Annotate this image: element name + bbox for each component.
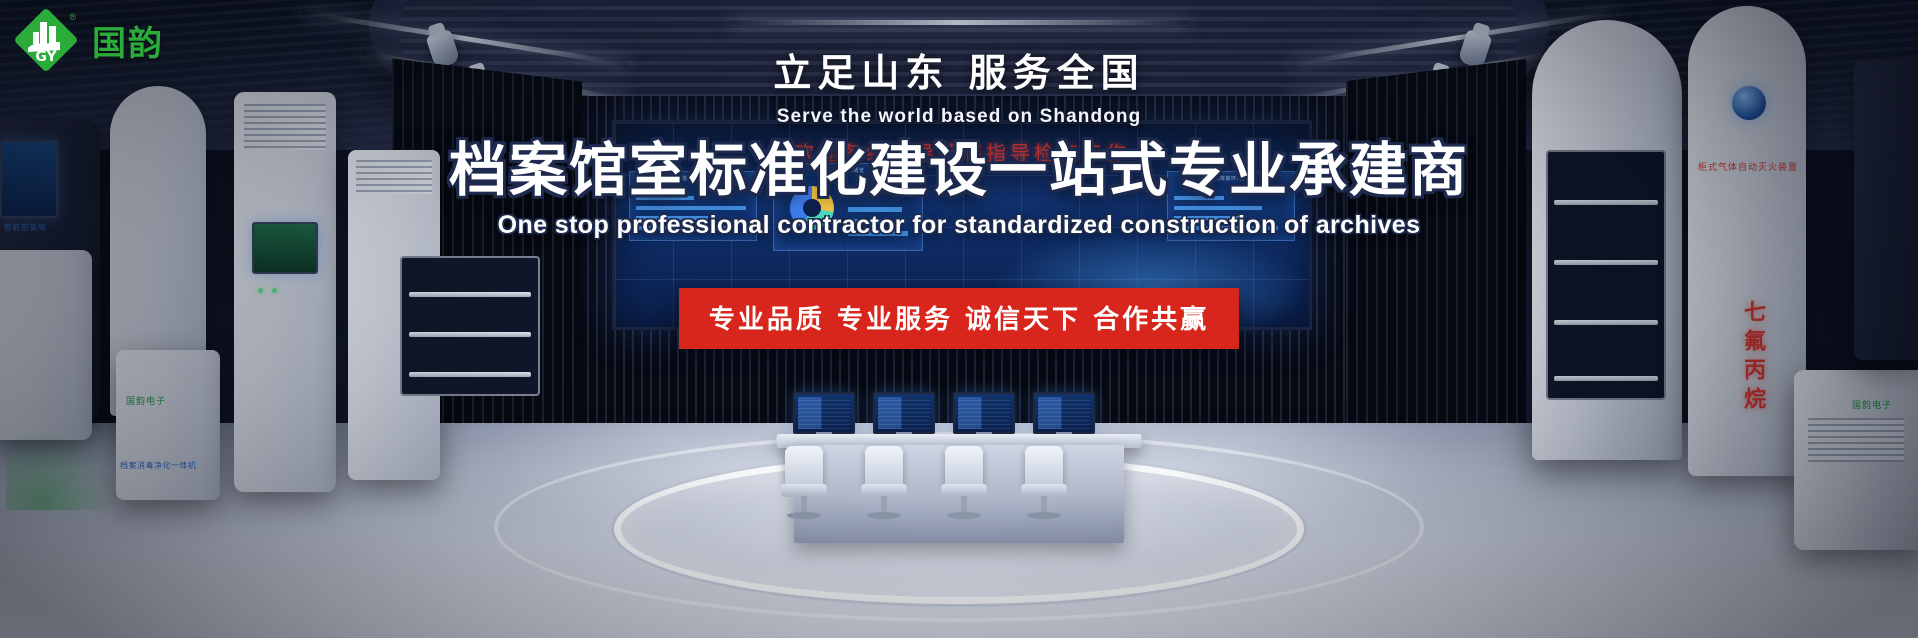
eyebrow-chinese: 立足山东 服务全国 bbox=[0, 42, 1918, 97]
hero-overlay: GY ® 国韵 立足山东 服务全国 Serve the world based … bbox=[0, 0, 1918, 638]
headline-chinese: 档案馆室标准化建设一站式专业承建商 bbox=[0, 138, 1918, 203]
registered-mark: ® bbox=[69, 12, 76, 22]
slogan-text: 专业品质 专业服务 诚信天下 合作共赢 bbox=[709, 305, 1209, 335]
eyebrow-english: Serve the world based on Shandong bbox=[0, 106, 1918, 128]
headline-block: 立足山东 服务全国 Serve the world based on Shand… bbox=[0, 42, 1918, 240]
headline-english: One stop professional contractor for sta… bbox=[0, 211, 1918, 240]
slogan-bar: 专业品质 专业服务 诚信天下 合作共赢 bbox=[679, 288, 1239, 349]
hero-banner: 档案信息管理系统 业务数据概览 档案库房环境监测 欢迎各级领导莅 bbox=[0, 0, 1918, 638]
